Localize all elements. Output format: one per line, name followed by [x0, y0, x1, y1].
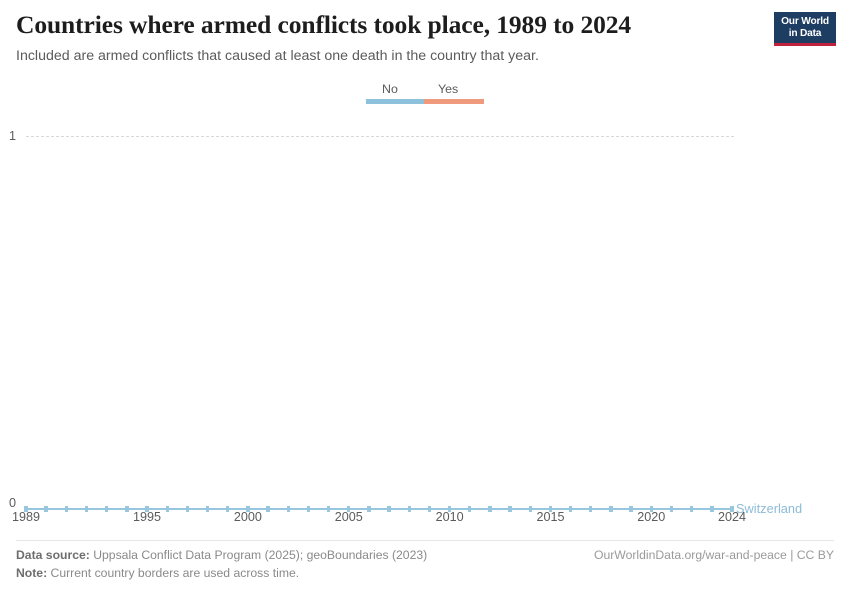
legend-swatch-no[interactable]: [366, 99, 424, 104]
footer-row-source: Data source: Uppsala Conflict Data Progr…: [16, 547, 834, 565]
note-text: Note: Current country borders are used a…: [16, 565, 299, 582]
gridline-y-1: [26, 136, 734, 137]
x-axis-tick-2020: 2020: [637, 510, 665, 525]
y-axis-tick-1: 1: [0, 129, 16, 143]
data-source-text: Data source: Uppsala Conflict Data Progr…: [16, 547, 427, 564]
page-title: Countries where armed conflicts took pla…: [16, 10, 756, 40]
note-label: Note:: [16, 566, 47, 580]
footer-divider: [16, 540, 834, 541]
logo-line-1: Our World: [779, 16, 831, 28]
x-axis-tick-2000: 2000: [234, 510, 262, 525]
legend-item-no[interactable]: No: [382, 82, 398, 97]
x-axis-tick-2015: 2015: [536, 510, 564, 525]
data-source-value: Uppsala Conflict Data Program (2025); ge…: [93, 548, 427, 562]
x-axis-tick-2024: 2024: [718, 510, 746, 525]
x-axis-tick-2005: 2005: [335, 510, 363, 525]
x-axis-tick-2010: 2010: [436, 510, 464, 525]
legend-labels: No Yes: [366, 82, 484, 97]
plot-area: 1 0 Switzerland: [0, 118, 850, 530]
x-axis-tick-1995: 1995: [133, 510, 161, 525]
legend-item-yes[interactable]: Yes: [438, 82, 458, 97]
note-value: Current country borders are used across …: [51, 566, 300, 580]
x-axis-tick-1989: 1989: [12, 510, 40, 525]
our-world-in-data-logo[interactable]: Our World in Data: [774, 12, 836, 46]
chart-legend: No Yes: [366, 82, 484, 106]
chart-container: Countries where armed conflicts took pla…: [0, 0, 850, 600]
chart-footer: Data source: Uppsala Conflict Data Progr…: [16, 547, 834, 583]
footer-row-note: Note: Current country borders are used a…: [16, 565, 834, 583]
data-source-label: Data source:: [16, 548, 90, 562]
logo-line-2: in Data: [779, 28, 831, 40]
legend-swatch-yes[interactable]: [424, 99, 484, 104]
legend-swatches: [366, 99, 484, 104]
x-axis: 19891995200020052010201520202024: [0, 508, 850, 530]
chart-header: Countries where armed conflicts took pla…: [16, 10, 756, 66]
attribution-link[interactable]: OurWorldinData.org/war-and-peace | CC BY: [594, 547, 834, 564]
chart-subtitle: Included are armed conflicts that caused…: [16, 46, 756, 66]
